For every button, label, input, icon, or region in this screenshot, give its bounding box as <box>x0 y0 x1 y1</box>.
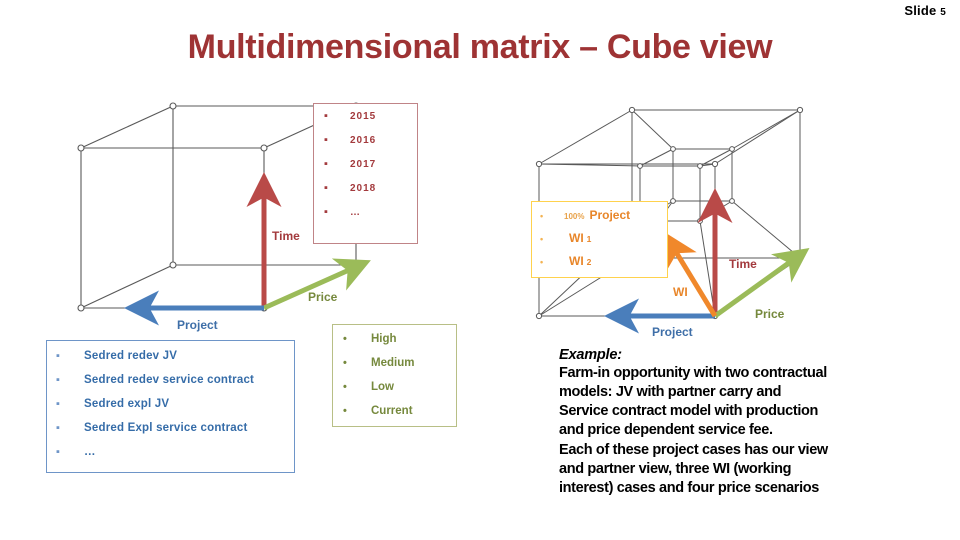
wi-item-label: Project <box>589 208 630 222</box>
bullet-icon: ▪ <box>47 423 84 434</box>
time-legend-box: ▪ 2015 ▪ 2016 ▪ 2017 ▪ 2018 ▪ … <box>313 103 418 244</box>
list-item: • WI 1 <box>532 231 667 254</box>
project-item-label: Sedred expl JV <box>84 398 169 410</box>
price-item-label: Low <box>371 381 394 393</box>
wi-legend-list: • 100% Project • WI 1 • WI 2 <box>532 208 667 277</box>
price-item-label: Medium <box>371 357 414 369</box>
time-item-label: 2017 <box>350 159 376 170</box>
bullet-icon: ▪ <box>47 351 84 362</box>
list-item: • Low <box>333 381 456 405</box>
example-line: interest) cases and four price scenarios <box>559 479 951 498</box>
project-item-label: Sedred redev JV <box>84 350 177 362</box>
example-line: and partner view, three WI (working <box>559 460 951 479</box>
example-line: models: JV with partner carry and <box>559 383 951 402</box>
example-text-block: Example: Farm-in opportunity with two co… <box>559 347 951 498</box>
bullet-icon: ▪ <box>314 135 350 146</box>
list-item: • Medium <box>333 357 456 381</box>
time-item-label: 2015 <box>350 111 376 122</box>
price-legend-box: • High • Medium • Low • Current <box>332 324 457 427</box>
wi-item-sub: 2 <box>587 257 592 267</box>
list-item: ▪ 2015 <box>314 111 417 135</box>
wi-item-label: WI <box>569 254 584 268</box>
list-item: • WI 2 <box>532 254 667 277</box>
list-item: • Current <box>333 405 456 429</box>
list-item: • High <box>333 333 456 357</box>
example-heading-text: Example <box>559 347 617 363</box>
bullet-icon: • <box>333 382 371 393</box>
list-item: ▪ Sedred Expl service contract <box>47 422 294 446</box>
example-line: Service contract model with production <box>559 402 951 421</box>
project-item-label: Sedred Expl service contract <box>84 422 247 434</box>
project-legend-list: ▪ Sedred redev JV ▪ Sedred redev service… <box>47 350 294 470</box>
price-legend-list: • High • Medium • Low • Current <box>333 333 456 429</box>
example-line: Farm-in opportunity with two contractual <box>559 364 951 383</box>
time-legend-list: ▪ 2015 ▪ 2016 ▪ 2017 ▪ 2018 ▪ … <box>314 111 417 231</box>
right-axis-label-time: Time <box>729 257 757 271</box>
example-heading: Example: <box>559 347 951 363</box>
list-item: ▪ Sedred redev JV <box>47 350 294 374</box>
wi-item-prefix: 100% <box>564 212 584 221</box>
project-item-label: … <box>84 446 96 458</box>
left-axis-label-project: Project <box>177 318 218 332</box>
slide-canvas: Slide 5 Multidimensional matrix – Cube v… <box>0 0 960 540</box>
bullet-icon: ▪ <box>47 399 84 410</box>
list-item: • 100% Project <box>532 208 667 231</box>
bullet-icon: • <box>333 358 371 369</box>
wi-item-sub: 1 <box>587 234 592 244</box>
right-axis-label-project: Project <box>652 325 693 339</box>
price-item-label: High <box>371 333 397 345</box>
bullet-icon: • <box>532 235 564 244</box>
left-axis-label-time: Time <box>272 229 300 243</box>
list-item: ▪ 2016 <box>314 135 417 159</box>
wi-legend-box: • 100% Project • WI 1 • WI 2 <box>531 201 668 278</box>
list-item: ▪ Sedred expl JV <box>47 398 294 422</box>
example-line: and price dependent service fee. <box>559 421 951 440</box>
right-axis-label-wi: WI <box>673 285 688 299</box>
bullet-icon: ▪ <box>314 111 350 122</box>
example-line: Each of these project cases has our view <box>559 441 951 460</box>
bullet-icon: ▪ <box>314 207 350 218</box>
time-item-label: 2018 <box>350 183 376 194</box>
list-item: ▪ Sedred redev service contract <box>47 374 294 398</box>
project-legend-box: ▪ Sedred redev JV ▪ Sedred redev service… <box>46 340 295 473</box>
price-item-label: Current <box>371 405 413 417</box>
bullet-icon: • <box>532 212 564 221</box>
wi-item-label: WI <box>569 231 584 245</box>
bullet-icon: • <box>333 406 371 417</box>
left-axis-label-price: Price <box>308 290 337 304</box>
list-item: ▪ 2017 <box>314 159 417 183</box>
list-item: ▪ … <box>314 207 417 231</box>
bullet-icon: ▪ <box>314 183 350 194</box>
project-item-label: Sedred redev service contract <box>84 374 254 386</box>
right-axis-label-price: Price <box>755 307 784 321</box>
bullet-icon: ▪ <box>47 375 84 386</box>
bullet-icon: • <box>532 258 564 267</box>
example-heading-colon: : <box>617 347 622 363</box>
bullet-icon: ▪ <box>314 159 350 170</box>
right-axis-wi-arrow <box>676 252 715 316</box>
list-item: ▪ … <box>47 446 294 470</box>
bullet-icon: • <box>333 334 371 345</box>
time-item-label: … <box>350 207 361 218</box>
time-item-label: 2016 <box>350 135 376 146</box>
list-item: ▪ 2018 <box>314 183 417 207</box>
bullet-icon: ▪ <box>47 447 84 458</box>
